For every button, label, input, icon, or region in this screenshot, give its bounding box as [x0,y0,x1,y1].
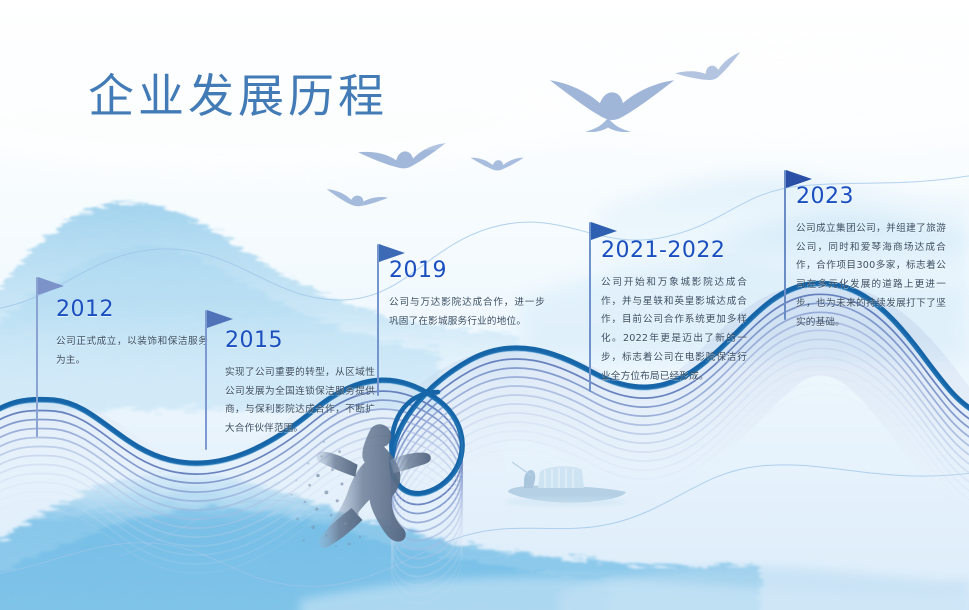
milestone-year: 2023 [796,184,946,209]
bird-icon [470,158,523,171]
bottom-mountain-wash [0,471,760,610]
milestone-description: 公司成立集团公司，并组建了旅游公司，同时和爱琴海商场达成合作，合作项目300多家… [796,220,946,332]
milestone-description: 公司开始和万象城影院达成合作，并与星轶和英皇影城达成合作，目前公司合作系统更加多… [601,274,747,386]
bird-icon [675,52,746,90]
guide-line-lower [0,465,969,587]
milestone-year: 2021-2022 [601,238,747,263]
bird-icon [358,143,448,173]
poster-canvas: 企业发展历程 2012 公司正式成立，以装饰和保洁服务为主。 2015 实现了公… [0,0,969,610]
fisherman [524,470,535,488]
ribbon-fold-left [391,392,438,456]
milestone-year: 2012 [56,297,208,322]
bird-icon [325,189,388,210]
milestone-description: 公司正式成立，以装饰和保洁服务为主。 [56,333,208,370]
boat-hull [508,485,626,502]
guide-line-mid [120,500,420,556]
milestone-year: 2015 [225,328,375,353]
page-title: 企业发展历程 [88,60,388,126]
milestone-description: 实现了公司重要的转型，从区域性公司发展为全国连锁保洁服务提供商，与保利影院达成合… [225,364,375,439]
milestone-description: 公司与万达影院达成合作，进一步巩固了在影城服务行业的地位。 [389,294,545,331]
milestone-year: 2019 [389,258,545,283]
bird-icon [550,80,674,132]
